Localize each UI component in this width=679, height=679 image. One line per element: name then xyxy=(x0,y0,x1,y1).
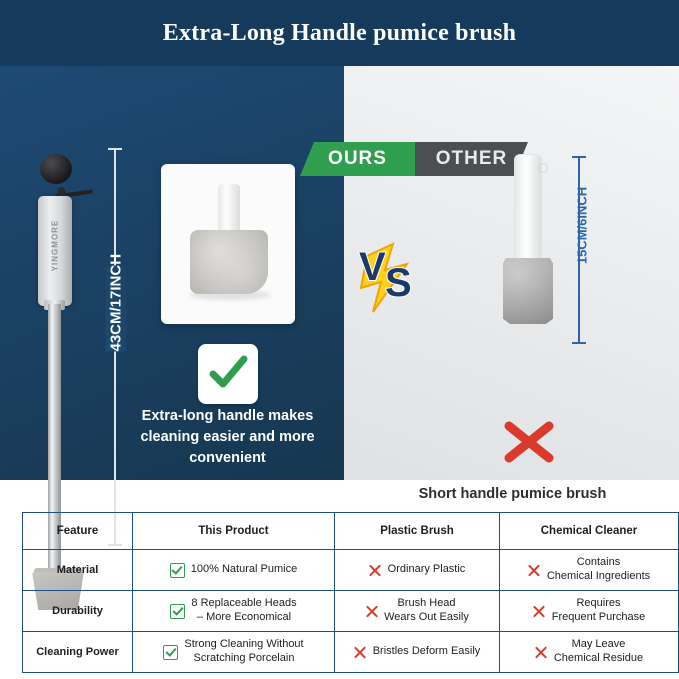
ours-caption: Extra-long handle makes cleaning easier … xyxy=(120,406,335,469)
ours-tab: OURS xyxy=(300,142,415,176)
cell-label: May LeaveChemical Residue xyxy=(554,638,643,666)
x-icon xyxy=(369,564,382,577)
product-photo-card xyxy=(161,164,295,324)
x-icon xyxy=(528,564,541,577)
table-header-row: Feature This Product Plastic Brush Chemi… xyxy=(23,513,679,550)
cell-label: Ordinary Plastic xyxy=(388,563,466,577)
short-handle-brush-image xyxy=(500,154,570,354)
short-brush-dimension: 15CM/6INCH xyxy=(572,156,586,344)
cell-this-product: Strong Cleaning WithoutScratching Porcel… xyxy=(133,632,335,673)
cell-label: Brush HeadWears Out Easily xyxy=(384,597,469,625)
comparison-section: OURS OTHER YINGMORE 43CM/17INCH xyxy=(0,66,679,480)
header-chemical-cleaner: Chemical Cleaner xyxy=(500,513,679,550)
cell-content: May LeaveChemical Residue xyxy=(502,638,676,666)
svg-text:V: V xyxy=(359,245,386,289)
page-title: Extra-Long Handle pumice brush xyxy=(163,20,516,47)
cell-plastic-brush: Brush HeadWears Out Easily xyxy=(335,591,500,632)
cell-content: Bristles Deform Easily xyxy=(337,645,497,659)
cell-this-product: 8 Replaceable Heads– More Economical xyxy=(133,591,335,632)
header-feature: Feature xyxy=(23,513,133,550)
cell-this-product: 100% Natural Pumice xyxy=(133,550,335,591)
cell-feature: Material xyxy=(23,550,133,591)
cell-plastic-brush: Bristles Deform Easily xyxy=(335,632,500,673)
cell-feature: Durability xyxy=(23,591,133,632)
header-plastic-brush: Plastic Brush xyxy=(335,513,500,550)
photo-pumice-head xyxy=(190,230,268,294)
comparison-table: Feature This Product Plastic Brush Chemi… xyxy=(22,512,679,673)
table-row: Durability8 Replaceable Heads– More Econ… xyxy=(23,591,679,632)
photo-handle xyxy=(218,184,240,236)
vs-icon: V S xyxy=(351,226,431,318)
product-infographic: Extra-Long Handle pumice brush OURS OTHE… xyxy=(0,0,679,679)
vs-badge: V S xyxy=(351,226,431,318)
brand-label: YINGMORE xyxy=(51,218,60,274)
svg-text:S: S xyxy=(385,261,412,305)
table-row: Cleaning PowerStrong Cleaning WithoutScr… xyxy=(23,632,679,673)
cell-label: ContainsChemical Ingredients xyxy=(547,556,650,584)
header-banner: Extra-Long Handle pumice brush xyxy=(0,0,679,66)
ours-tab-label: OURS xyxy=(328,148,387,170)
comparison-table-wrapper: Feature This Product Plastic Brush Chemi… xyxy=(22,512,658,673)
table-row: Material100% Natural PumiceOrdinary Plas… xyxy=(23,550,679,591)
long-brush-dimension-label: 43CM/17INCH xyxy=(106,266,127,352)
check-icon xyxy=(163,645,178,660)
cell-content: Ordinary Plastic xyxy=(337,563,497,577)
long-handle-brush-image: YINGMORE xyxy=(30,144,100,544)
brush-grip: YINGMORE xyxy=(38,196,72,306)
short-brush-handle xyxy=(514,154,542,264)
x-icon xyxy=(365,605,378,618)
cell-chemical-cleaner: ContainsChemical Ingredients xyxy=(500,550,679,591)
other-caption: Short handle pumice brush xyxy=(355,486,670,502)
cell-label: Strong Cleaning WithoutScratching Porcel… xyxy=(184,638,303,666)
cell-label: Bristles Deform Easily xyxy=(373,645,481,659)
cell-content: RequiresFrequent Purchase xyxy=(502,597,676,625)
cell-chemical-cleaner: RequiresFrequent Purchase xyxy=(500,591,679,632)
short-brush-dimension-label: 15CM/6INCH xyxy=(575,181,590,271)
cell-plastic-brush: Ordinary Plastic xyxy=(335,550,500,591)
cell-label: 100% Natural Pumice xyxy=(191,563,297,577)
cell-content: 8 Replaceable Heads– More Economical xyxy=(135,597,332,625)
short-brush-pumice-head xyxy=(503,258,553,324)
cell-content: Strong Cleaning WithoutScratching Porcel… xyxy=(135,638,332,666)
red-x-icon xyxy=(503,420,555,464)
check-icon xyxy=(170,563,185,578)
cell-content: 100% Natural Pumice xyxy=(135,563,332,578)
hang-hole-icon xyxy=(538,163,548,173)
cell-label: RequiresFrequent Purchase xyxy=(552,597,646,625)
x-icon xyxy=(354,646,367,659)
cell-feature: Cleaning Power xyxy=(23,632,133,673)
other-tab-label: OTHER xyxy=(436,148,508,170)
long-brush-dimension: 43CM/17INCH xyxy=(108,148,122,546)
red-x-badge xyxy=(498,418,560,466)
table-body: Material100% Natural PumiceOrdinary Plas… xyxy=(23,550,679,673)
dimension-cap-bottom xyxy=(572,342,586,344)
brush-knob-icon xyxy=(40,154,72,184)
check-icon xyxy=(170,604,185,619)
cell-label: 8 Replaceable Heads– More Economical xyxy=(191,597,296,625)
x-icon xyxy=(533,605,546,618)
cell-content: Brush HeadWears Out Easily xyxy=(337,597,497,625)
cell-chemical-cleaner: May LeaveChemical Residue xyxy=(500,632,679,673)
cell-content: ContainsChemical Ingredients xyxy=(502,556,676,584)
x-icon xyxy=(535,646,548,659)
green-check-icon xyxy=(208,354,248,394)
header-this-product: This Product xyxy=(133,513,335,550)
green-check-badge xyxy=(198,344,258,404)
